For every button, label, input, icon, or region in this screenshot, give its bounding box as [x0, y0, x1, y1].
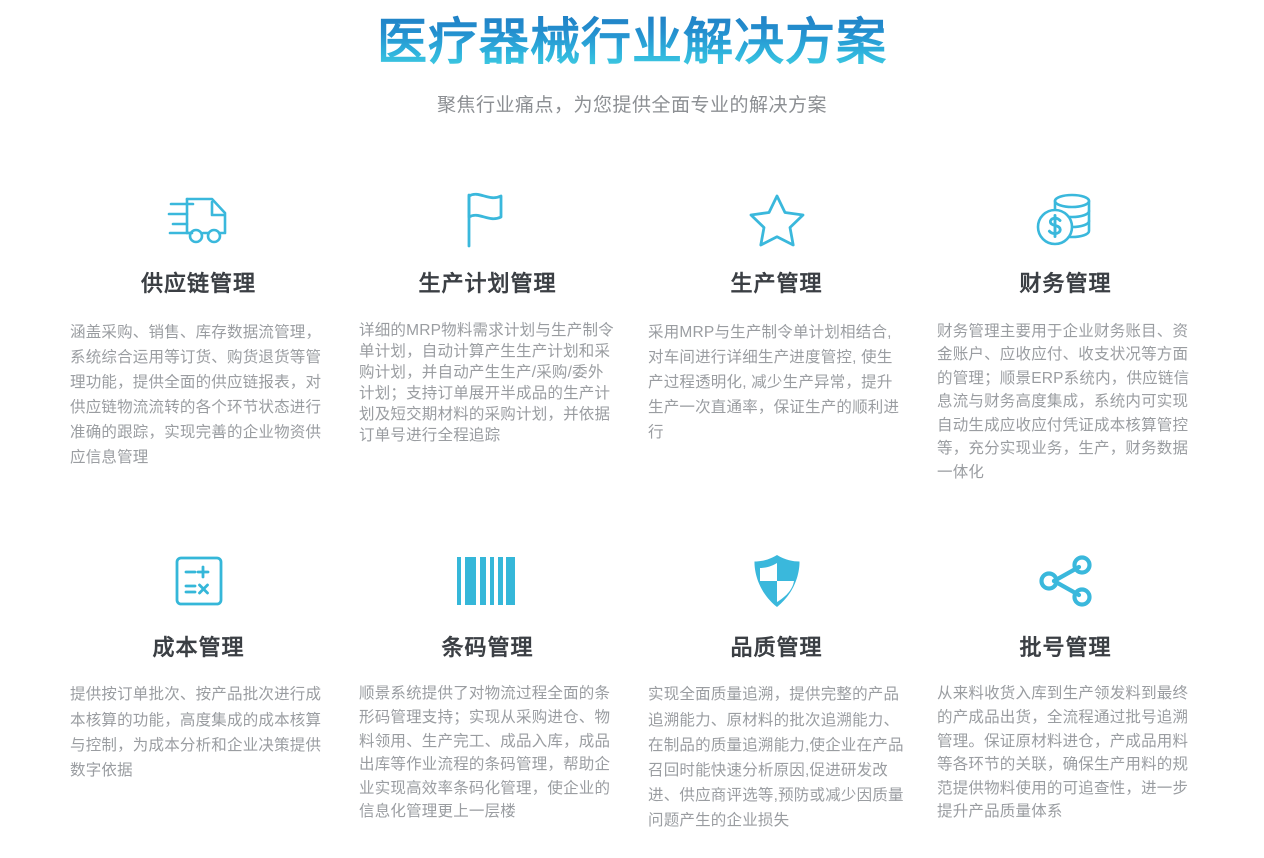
feature-card-supply-chain[interactable]: 供应链管理 涵盖采购、销售、库存数据流管理，系统综合运用等订货、购货退货等管理功… — [54, 184, 343, 485]
card-description: 提供按订单批次、按产品批次进行成本核算的功能，高度集成的成本核算与控制，为成本分… — [70, 682, 327, 782]
card-description: 顺景系统提供了对物流过程全面的条形码管理支持；实现从采购进仓、物料领用、生产完工… — [359, 682, 616, 823]
shield-icon — [648, 548, 905, 614]
feature-card-production[interactable]: 生产管理 采用MRP与生产制令单计划相结合, 对车间进行详细生产进度管控, 使生… — [632, 184, 921, 485]
feature-grid-row-2: 成本管理 提供按订单批次、按产品批次进行成本核算的功能，高度集成的成本核算与控制… — [0, 548, 1264, 833]
feature-card-quality[interactable]: 品质管理 实现全面质量追溯，提供完整的产品追溯能力、原材料的批次追溯能力、在制品… — [632, 548, 921, 833]
feature-grid-row-1: 供应链管理 涵盖采购、销售、库存数据流管理，系统综合运用等订货、购货退货等管理功… — [0, 184, 1264, 485]
card-description: 采用MRP与生产制令单计划相结合, 对车间进行详细生产进度管控, 使生产过程透明… — [648, 320, 905, 446]
share-network-icon — [937, 548, 1194, 614]
card-title: 生产计划管理 — [359, 266, 616, 298]
coins-dollar-icon — [937, 184, 1194, 256]
page-title: 医疗器械行业解决方案 — [377, 12, 887, 73]
calculator-icon — [70, 548, 327, 614]
card-title: 供应链管理 — [70, 266, 327, 298]
card-title: 财务管理 — [937, 266, 1194, 298]
card-title: 生产管理 — [648, 266, 905, 298]
page-subtitle: 聚焦行业痛点，为您提供全面专业的解决方案 — [0, 93, 1264, 120]
feature-card-finance[interactable]: 财务管理 财务管理主要用于企业财务账目、资金账户、应收应付、收支状况等方面的管理… — [921, 184, 1210, 485]
delivery-truck-icon — [70, 184, 327, 256]
flag-icon — [359, 184, 616, 256]
page-header: 医疗器械行业解决方案 聚焦行业痛点，为您提供全面专业的解决方案 — [0, 0, 1264, 120]
feature-card-barcode[interactable]: 条码管理 顺景系统提供了对物流过程全面的条形码管理支持；实现从采购进仓、物料领用… — [343, 548, 632, 833]
card-description: 详细的MRP物料需求计划与生产制令单计划，自动计算产生生产计划和采购计划，并自动… — [359, 320, 616, 446]
feature-card-cost[interactable]: 成本管理 提供按订单批次、按产品批次进行成本核算的功能，高度集成的成本核算与控制… — [54, 548, 343, 833]
star-icon — [648, 184, 905, 256]
card-description: 涵盖采购、销售、库存数据流管理，系统综合运用等订货、购货退货等管理功能，提供全面… — [70, 320, 327, 471]
feature-card-lot-number[interactable]: 批号管理 从来料收货入库到生产领发料到最终的产成品出货，全流程通过批号追溯管理。… — [921, 548, 1210, 833]
card-description: 从来料收货入库到生产领发料到最终的产成品出货，全流程通过批号追溯管理。保证原材料… — [937, 682, 1194, 823]
card-title: 条码管理 — [359, 630, 616, 662]
feature-card-production-plan[interactable]: 生产计划管理 详细的MRP物料需求计划与生产制令单计划，自动计算产生生产计划和采… — [343, 184, 632, 485]
card-description: 财务管理主要用于企业财务账目、资金账户、应收应付、收支状况等方面的管理；顺景ER… — [937, 320, 1194, 485]
barcode-icon — [359, 548, 616, 614]
card-title: 品质管理 — [648, 630, 905, 662]
card-title: 批号管理 — [937, 630, 1194, 662]
card-title: 成本管理 — [70, 630, 327, 662]
solution-page: 医疗器械行业解决方案 聚焦行业痛点，为您提供全面专业的解决方案 — [0, 0, 1264, 858]
card-description: 实现全面质量追溯，提供完整的产品追溯能力、原材料的批次追溯能力、在制品的质量追溯… — [648, 682, 905, 833]
